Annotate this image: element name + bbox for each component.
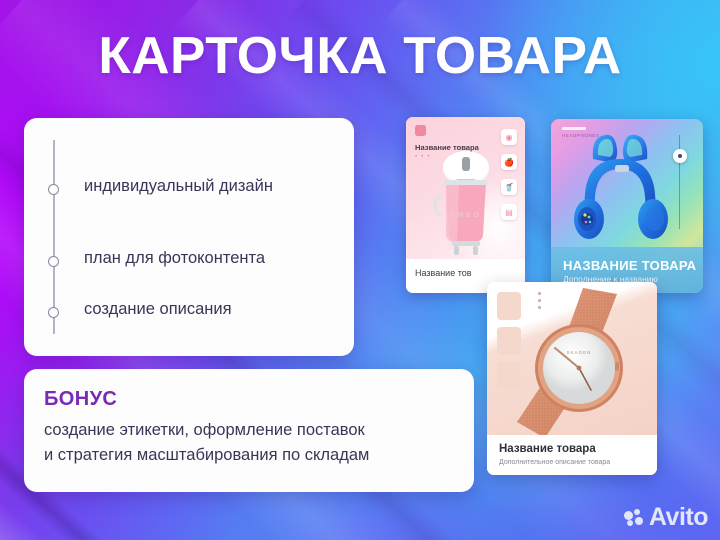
watch-subtitle: Дополнительное описание товара: [499, 459, 610, 466]
bonus-panel: БОНУС создание этикетки, оформление пост…: [24, 369, 474, 492]
timeline: [53, 140, 55, 334]
timeline-dot-2: [48, 256, 59, 267]
watch-thumbnail-2[interactable]: [497, 327, 521, 355]
watch-footer: Название товара Дополнительное описание …: [487, 435, 657, 475]
watch-thumbnail-1[interactable]: [497, 292, 521, 320]
feature-item-2: план для фотоконтента: [84, 249, 265, 268]
bonus-line-2: и стратегия масштабирования по складам: [44, 446, 369, 465]
juicer-footer-title: Название тов: [415, 268, 472, 278]
timeline-dot-3: [48, 307, 59, 318]
watch-menu-dot-2: [538, 299, 541, 302]
page-title: КАРТОЧКА ТОВАРА: [0, 26, 720, 86]
feature-item-1: индивидуальный дизайн: [84, 177, 273, 196]
sticker-icon-glyph: ◉: [506, 133, 513, 142]
bonus-line-1: создание этикетки, оформление поставок: [44, 421, 365, 440]
juicer-badge-icon: [415, 125, 426, 136]
product-card-headphones[interactable]: HEADPHONES: [551, 119, 703, 293]
features-panel: индивидуальный дизайн план для фотоконте…: [24, 118, 354, 356]
watch-menu-dot-1: [538, 292, 541, 295]
apple-icon[interactable]: 🍎: [501, 154, 517, 170]
package-icon[interactable]: ▤: [501, 204, 517, 220]
juicer-title: Название товара: [415, 143, 479, 152]
watch-thumbnail-3[interactable]: [497, 362, 521, 390]
timeline-dot-1: [48, 184, 59, 195]
svg-text:SMEG: SMEG: [450, 212, 483, 219]
package-icon-glyph: ▤: [505, 208, 513, 217]
headphones-slider-knob[interactable]: [673, 149, 687, 163]
juice-cup-icon[interactable]: 🥤: [501, 179, 517, 195]
avito-wordmark: Avito: [649, 505, 708, 530]
product-card-watch[interactable]: SKAGEN Название товара Дополнительное оп…: [487, 282, 657, 475]
avito-dots-icon: [624, 509, 644, 527]
svg-text:SKAGEN: SKAGEN: [567, 350, 592, 355]
product-card-juicer[interactable]: SMEG Название товара • • • ◉ 🍎 🥤 ▤ Назва…: [406, 117, 525, 293]
bonus-heading: БОНУС: [44, 388, 117, 411]
juicer-subtitle: • • •: [415, 154, 431, 160]
timeline-line: [53, 140, 55, 334]
juice-cup-icon-glyph: 🥤: [504, 183, 514, 192]
avito-watermark: Avito: [624, 505, 708, 530]
feature-item-3: создание описания: [84, 300, 232, 319]
watch-title: Название товара: [499, 443, 596, 455]
headphones-illustration: [551, 125, 703, 255]
apple-icon-glyph: 🍎: [504, 158, 514, 167]
headphones-title: НАЗВАНИЕ ТОВАРА: [563, 258, 696, 273]
sticker-icon[interactable]: ◉: [501, 129, 517, 145]
watch-menu-dot-3: [538, 306, 541, 309]
